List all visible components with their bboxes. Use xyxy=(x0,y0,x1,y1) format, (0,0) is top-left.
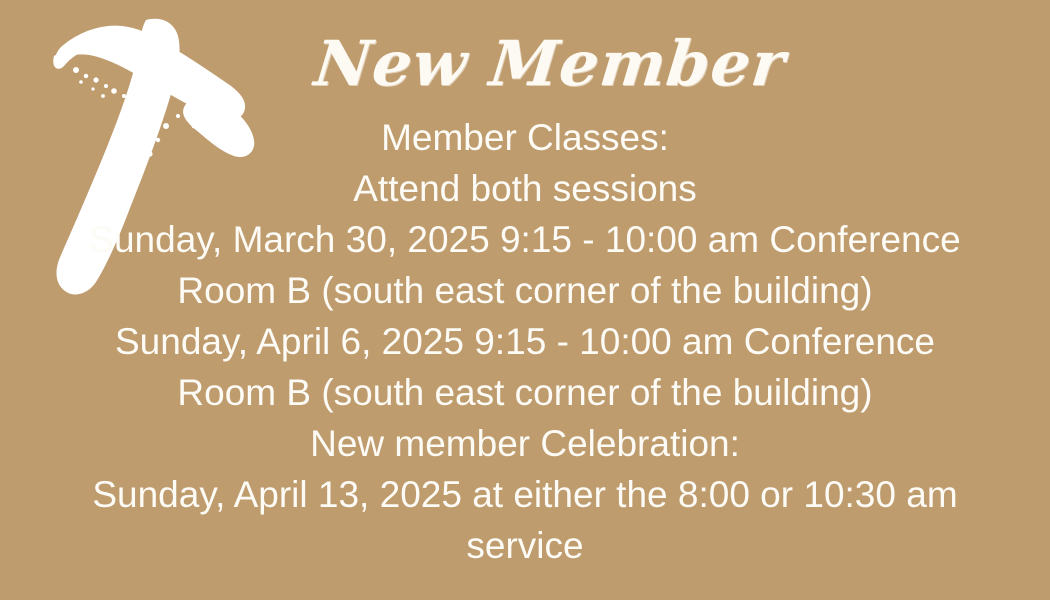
body-line: New member Celebration: xyxy=(0,418,1050,469)
body-line: Member Classes: xyxy=(0,112,1050,163)
body-line: Room B (south east corner of the buildin… xyxy=(0,367,1050,418)
page-title: New Member xyxy=(312,33,789,95)
body-line: Sunday, April 13, 2025 at either the 8:0… xyxy=(0,469,1050,520)
poster-title-container: New Member xyxy=(300,14,800,114)
body-line: Room B (south east corner of the buildin… xyxy=(0,265,1050,316)
poster-body: Member Classes: Attend both sessions Sun… xyxy=(0,112,1050,571)
body-line: Attend both sessions xyxy=(0,163,1050,214)
body-line: service xyxy=(0,520,1050,571)
poster-canvas: New Member Member Classes: Attend both s… xyxy=(0,0,1050,600)
body-line: Sunday, March 30, 2025 9:15 - 10:00 am C… xyxy=(0,214,1050,265)
body-line: Sunday, April 6, 2025 9:15 - 10:00 am Co… xyxy=(0,316,1050,367)
